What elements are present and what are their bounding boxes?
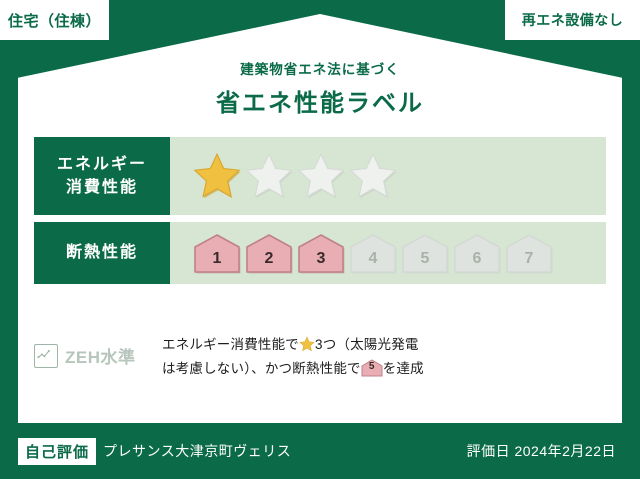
row-insulation-performance: 断熱性能 1234567 xyxy=(34,222,606,284)
insulation-level-badge: 5 xyxy=(400,231,450,275)
tag-renewable-energy: 再エネ設備なし xyxy=(505,0,640,40)
star-rating xyxy=(170,151,398,201)
row-insulation-performance-value: 1234567 xyxy=(170,222,606,284)
footer-left-group: 自己評価 プレサンス大津京町ヴェリス xyxy=(0,438,467,465)
tag-building-type-label: 住宅（住棟） xyxy=(8,10,101,31)
row-insulation-label-line1: 断熱性能 xyxy=(66,241,138,264)
zeh-desc-star-count: 3つ（太陽光発電 xyxy=(315,337,419,352)
star-filled-icon xyxy=(192,151,242,201)
insulation-level-number: 7 xyxy=(504,250,554,268)
building-name: プレサンス大津京町ヴェリス xyxy=(103,441,291,461)
insulation-level-number: 5 xyxy=(400,250,450,268)
tag-renewable-energy-label: 再エネ設備なし xyxy=(522,10,624,30)
insulation-level-badge: 2 xyxy=(244,231,294,275)
row-energy-performance: エネルギー 消費性能 xyxy=(34,137,606,215)
row-insulation-performance-label: 断熱性能 xyxy=(34,222,170,284)
star-empty-icon xyxy=(348,151,398,201)
zeh-desc-part1: エネルギー消費性能で xyxy=(162,337,299,352)
zeh-standard-note: ZEH水準 エネルギー消費性能で 3つ（太陽光発電 は考慮しない）、かつ断熱性能… xyxy=(34,333,606,380)
insulation-level-number: 3 xyxy=(296,250,346,268)
row-energy-label-line1: エネルギー xyxy=(57,153,147,176)
insulation-level-number: 1 xyxy=(192,250,242,268)
zeh-standard-marker: ZEH水準 xyxy=(34,333,162,368)
insulation-level-badge: 6 xyxy=(452,231,502,275)
energy-performance-label: 住宅（住棟） 再エネ設備なし 建築物省エネ法に基づく 省エネ性能ラベル エネルギ… xyxy=(0,0,640,479)
insulation-level-number: 4 xyxy=(348,250,398,268)
inline-house-badge: 5 xyxy=(361,359,383,377)
zeh-chart-icon xyxy=(34,344,58,368)
star-empty-icon xyxy=(296,151,346,201)
heading-subtitle: 建築物省エネ法に基づく xyxy=(0,58,640,78)
zeh-desc-part2: は考慮しない）、かつ断熱性能で xyxy=(162,361,361,376)
inline-house-level: 5 xyxy=(361,358,383,376)
tag-building-type: 住宅（住棟） xyxy=(0,0,109,40)
insulation-level-scale: 1234567 xyxy=(170,231,556,275)
row-energy-performance-value xyxy=(170,137,606,215)
insulation-level-number: 6 xyxy=(452,250,502,268)
insulation-level-badge: 4 xyxy=(348,231,398,275)
page-title: 建築物省エネ法に基づく 省エネ性能ラベル xyxy=(0,58,640,118)
footer-bar: 自己評価 プレサンス大津京町ヴェリス 評価日 2024年2月22日 xyxy=(0,423,640,479)
insulation-level-badge: 3 xyxy=(296,231,346,275)
insulation-level-badge: 1 xyxy=(192,231,242,275)
star-empty-icon xyxy=(244,151,294,201)
zeh-standard-label: ZEH水準 xyxy=(65,343,136,368)
metric-rows: エネルギー 消費性能 断熱性能 1234567 xyxy=(34,137,606,291)
row-energy-performance-label: エネルギー 消費性能 xyxy=(34,137,170,215)
row-energy-label-line2: 消費性能 xyxy=(66,176,138,199)
insulation-level-number: 2 xyxy=(244,250,294,268)
evaluation-date: 評価日 2024年2月22日 xyxy=(467,441,640,461)
zeh-standard-description: エネルギー消費性能で 3つ（太陽光発電 は考慮しない）、かつ断熱性能で 5を達成 xyxy=(162,333,424,380)
heading-title: 省エネ性能ラベル xyxy=(0,83,640,118)
status-badge: 自己評価 xyxy=(18,438,96,465)
inline-star-icon xyxy=(299,336,315,352)
zeh-desc-part3: を達成 xyxy=(383,361,424,376)
insulation-level-badge: 7 xyxy=(504,231,554,275)
